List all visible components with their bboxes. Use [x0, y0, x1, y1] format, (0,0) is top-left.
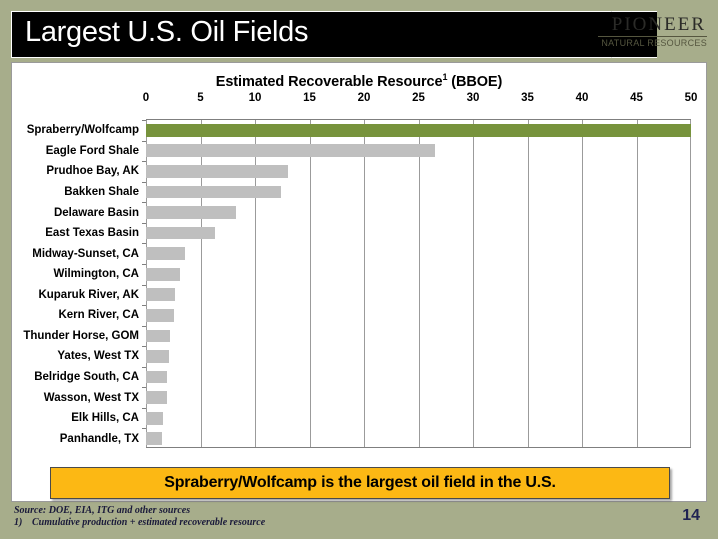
- pioneer-logo: PIONEER NATURAL RESOURCES: [595, 15, 707, 55]
- logo-tagline: NATURAL RESOURCES: [595, 38, 707, 48]
- footnote-text: Cumulative production + estimated recove…: [32, 517, 265, 528]
- bar[interactable]: [146, 432, 162, 445]
- bar[interactable]: [146, 350, 169, 363]
- category-label: Belridge South, CA: [34, 371, 139, 383]
- footnote-source: Source: DOE, EIA, ITG and other sources: [14, 505, 514, 517]
- category-label: Prudhoe Bay, AK: [46, 165, 139, 177]
- x-tick-40: 40: [576, 92, 589, 104]
- bar[interactable]: [146, 391, 167, 404]
- bar[interactable]: [146, 268, 180, 281]
- y-tick-mark: [142, 161, 146, 162]
- page-number: 14: [682, 507, 700, 525]
- y-tick-mark: [142, 120, 146, 121]
- category-label: Delaware Basin: [54, 207, 139, 219]
- bar-row[interactable]: Kuparuk River, AK: [146, 288, 691, 301]
- bar-row[interactable]: Delaware Basin: [146, 206, 691, 219]
- x-tick-30: 30: [467, 92, 480, 104]
- x-tick-25: 25: [412, 92, 425, 104]
- bar-row[interactable]: Thunder Horse, GOM: [146, 330, 691, 343]
- category-label: Midway-Sunset, CA: [32, 248, 139, 260]
- x-tick-20: 20: [358, 92, 371, 104]
- slide-header: Largest U.S. Oil Fields PIONEER NATURAL …: [11, 11, 707, 58]
- y-tick-mark: [142, 305, 146, 306]
- category-label: Bakken Shale: [64, 186, 139, 198]
- footnotes: Source: DOE, EIA, ITG and other sources …: [14, 505, 514, 529]
- bar[interactable]: [146, 124, 691, 137]
- category-label: Yates, West TX: [57, 350, 139, 362]
- bar-row[interactable]: Yates, West TX: [146, 350, 691, 363]
- footnote-one: 1)Cumulative production + estimated reco…: [14, 517, 514, 529]
- bar[interactable]: [146, 247, 185, 260]
- content-panel: Estimated Recoverable Resource1 (BBOE) 0…: [11, 62, 707, 502]
- y-tick-mark: [142, 285, 146, 286]
- bar[interactable]: [146, 144, 435, 157]
- bar-row[interactable]: Belridge South, CA: [146, 371, 691, 384]
- category-label: Spraberry/Wolfcamp: [27, 124, 139, 136]
- category-label: Kern River, CA: [58, 309, 139, 321]
- bar-row[interactable]: East Texas Basin: [146, 227, 691, 240]
- category-label: Kuparuk River, AK: [38, 289, 139, 301]
- bar-row[interactable]: Midway-Sunset, CA: [146, 247, 691, 260]
- x-tick-5: 5: [197, 92, 203, 104]
- footnote-marker: 1): [14, 517, 32, 529]
- y-tick-mark: [142, 346, 146, 347]
- y-tick-mark: [142, 182, 146, 183]
- y-tick-mark: [142, 326, 146, 327]
- bar-row[interactable]: Spraberry/Wolfcamp: [146, 124, 691, 137]
- bar[interactable]: [146, 309, 174, 322]
- category-label: Panhandle, TX: [60, 433, 139, 445]
- y-tick-mark: [142, 223, 146, 224]
- y-tick-mark: [142, 367, 146, 368]
- bar-chart: 05101520253035404550 Spraberry/WolfcampE…: [12, 63, 708, 453]
- callout-text: Spraberry/Wolfcamp is the largest oil fi…: [164, 474, 555, 492]
- bar-row[interactable]: Prudhoe Bay, AK: [146, 165, 691, 178]
- logo-wordmark: PIONEER: [595, 15, 707, 35]
- x-tick-45: 45: [630, 92, 643, 104]
- bar[interactable]: [146, 227, 215, 240]
- y-tick-mark: [142, 428, 146, 429]
- category-label: Thunder Horse, GOM: [23, 330, 139, 342]
- bar-row[interactable]: Wasson, West TX: [146, 391, 691, 404]
- page-title: Largest U.S. Oil Fields: [25, 16, 308, 49]
- bar-row[interactable]: Elk Hills, CA: [146, 412, 691, 425]
- bar-row[interactable]: Wilmington, CA: [146, 268, 691, 281]
- logo-divider: [598, 36, 707, 37]
- x-tick-10: 10: [249, 92, 262, 104]
- category-label: Wilmington, CA: [54, 268, 140, 280]
- callout-banner: Spraberry/Wolfcamp is the largest oil fi…: [50, 467, 670, 499]
- x-tick-15: 15: [303, 92, 316, 104]
- bar[interactable]: [146, 330, 170, 343]
- bar[interactable]: [146, 186, 281, 199]
- bar[interactable]: [146, 206, 236, 219]
- bar-row[interactable]: Bakken Shale: [146, 186, 691, 199]
- bar-row[interactable]: Panhandle, TX: [146, 432, 691, 445]
- y-tick-mark: [142, 387, 146, 388]
- y-tick-mark: [142, 202, 146, 203]
- category-label: Wasson, West TX: [44, 392, 139, 404]
- y-tick-mark: [142, 264, 146, 265]
- bar[interactable]: [146, 165, 288, 178]
- x-tick-50: 50: [685, 92, 698, 104]
- x-tick-0: 0: [143, 92, 149, 104]
- bar-row[interactable]: Eagle Ford Shale: [146, 144, 691, 157]
- category-label: Elk Hills, CA: [71, 412, 139, 424]
- bar[interactable]: [146, 412, 163, 425]
- bar-row[interactable]: Kern River, CA: [146, 309, 691, 322]
- plot-area: Spraberry/WolfcampEagle Ford ShalePrudho…: [146, 119, 691, 448]
- y-tick-mark: [142, 243, 146, 244]
- category-label: East Texas Basin: [45, 227, 139, 239]
- y-tick-mark: [142, 408, 146, 409]
- footer-strip: [11, 530, 707, 533]
- x-tick-35: 35: [521, 92, 534, 104]
- bar[interactable]: [146, 371, 167, 384]
- category-label: Eagle Ford Shale: [46, 145, 139, 157]
- bar[interactable]: [146, 288, 175, 301]
- y-tick-mark: [142, 141, 146, 142]
